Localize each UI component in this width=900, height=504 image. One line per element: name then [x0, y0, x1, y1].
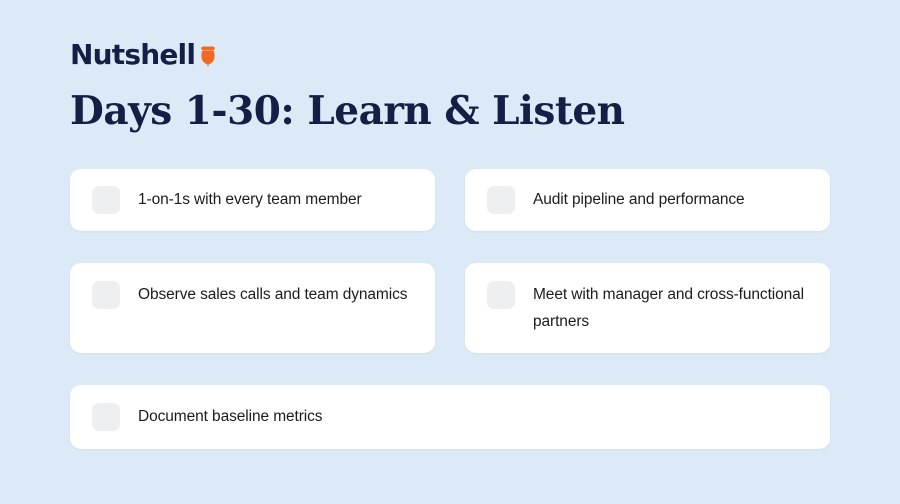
checklist-item-label: Observe sales calls and team dynamics: [138, 281, 407, 309]
checkbox-icon[interactable]: [487, 281, 515, 309]
checkbox-icon[interactable]: [92, 403, 120, 431]
slide-canvas: Nutshell Days 1-30: Learn & Listen 1-on-…: [0, 0, 900, 504]
acorn-icon: [199, 45, 217, 67]
checklist-item[interactable]: Meet with manager and cross-functional p…: [465, 263, 830, 353]
checklist-item[interactable]: 1-on-1s with every team member: [70, 169, 435, 231]
brand-wordmark: Nutshell: [70, 41, 195, 69]
checkbox-icon[interactable]: [487, 186, 515, 214]
checklist: 1-on-1s with every team member Audit pip…: [70, 169, 830, 449]
checklist-item-label: Meet with manager and cross-functional p…: [533, 281, 810, 335]
brand-logo: Nutshell: [70, 0, 830, 72]
checkbox-icon[interactable]: [92, 186, 120, 214]
checklist-item[interactable]: Audit pipeline and performance: [465, 169, 830, 231]
checklist-item[interactable]: Observe sales calls and team dynamics: [70, 263, 435, 353]
checkbox-icon[interactable]: [92, 281, 120, 309]
page-title: Days 1-30: Learn & Listen: [70, 72, 830, 133]
checklist-item-label: Audit pipeline and performance: [533, 186, 745, 214]
checklist-item[interactable]: Document baseline metrics: [70, 385, 830, 449]
checklist-item-label: Document baseline metrics: [138, 403, 322, 431]
checklist-item-label: 1-on-1s with every team member: [138, 186, 362, 214]
